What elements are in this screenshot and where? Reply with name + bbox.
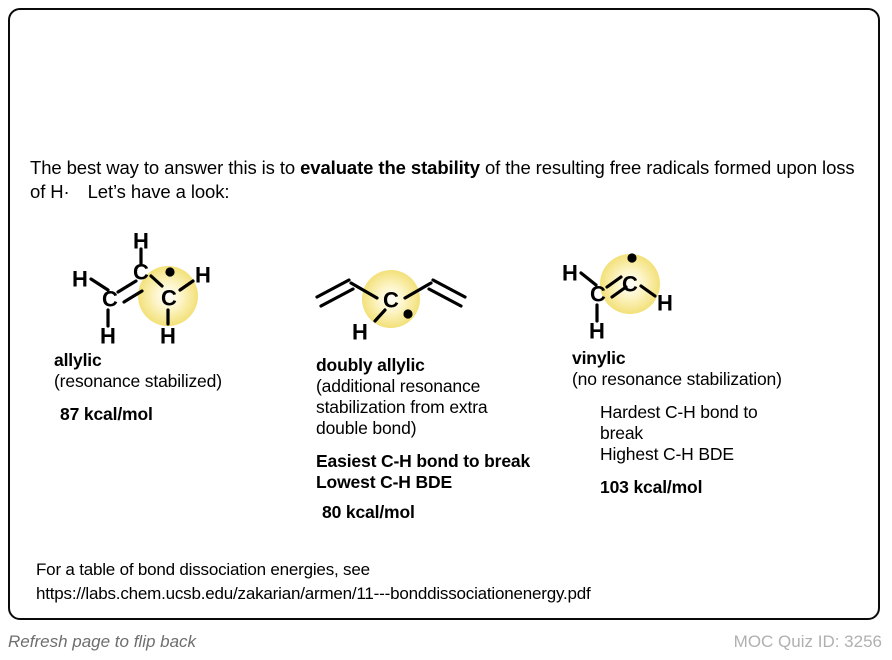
allylic-label-block: allylic (resonance stabilized) 87 kcal/m… bbox=[54, 350, 304, 425]
page-root: The best way to answer this is to evalua… bbox=[0, 0, 892, 660]
atom-C: C bbox=[590, 282, 606, 307]
source-note-url[interactable]: https://labs.chem.ucsb.edu/zakarian/arme… bbox=[36, 582, 591, 606]
allylic-bde-value: 87 kcal/mol bbox=[54, 404, 304, 425]
vinyl-radical-structure: H C C H H bbox=[543, 238, 723, 350]
intro-text-part3: Let’s have a look: bbox=[88, 181, 230, 202]
atom-H: H bbox=[160, 324, 176, 348]
atom-C-radical: C bbox=[161, 286, 177, 311]
vinylic-note-line3: Highest C-H BDE bbox=[572, 444, 872, 465]
allylic-title: allylic bbox=[54, 350, 304, 371]
allyl-radical-drawing: H C H C H C H H bbox=[50, 228, 270, 348]
allylic-subtitle: (resonance stabilized) bbox=[54, 371, 304, 392]
atom-H: H bbox=[72, 267, 88, 292]
vinylic-note-line1: Hardest C-H bond to bbox=[572, 402, 872, 423]
spacer bbox=[572, 390, 872, 402]
source-note-line1: For a table of bond dissociation energie… bbox=[36, 558, 591, 582]
vinylic-label-block: vinylic (no resonance stabilization) Har… bbox=[572, 348, 872, 498]
spacer bbox=[316, 493, 578, 502]
doubly-allylic-title: doubly allylic bbox=[316, 355, 578, 376]
intro-text-part1: The best way to answer this is to bbox=[30, 157, 300, 178]
atom-H: H bbox=[589, 319, 605, 344]
pentadienyl-radical-structure: C H bbox=[305, 258, 480, 353]
atom-H: H bbox=[657, 291, 673, 316]
radical-dot-icon bbox=[403, 309, 412, 318]
pentadienyl-radical-drawing: C H bbox=[305, 258, 480, 353]
atom-C-radical: C bbox=[622, 272, 638, 297]
doubly-allylic-subtitle-line1: (additional resonance bbox=[316, 376, 578, 397]
atom-H: H bbox=[133, 229, 149, 254]
atom-H: H bbox=[352, 320, 368, 345]
refresh-hint: Refresh page to flip back bbox=[8, 632, 196, 652]
atom-H: H bbox=[100, 324, 116, 348]
radical-dot-icon bbox=[165, 267, 174, 276]
intro-paragraph: The best way to answer this is to evalua… bbox=[30, 156, 870, 204]
doubly-allylic-subtitle-line2: stabilization from extra bbox=[316, 397, 578, 418]
vinylic-bde-value: 103 kcal/mol bbox=[572, 477, 872, 498]
radical-dot-icon bbox=[627, 253, 636, 262]
vinylic-subtitle: (no resonance stabilization) bbox=[572, 369, 872, 390]
atom-H: H bbox=[195, 263, 211, 288]
doubly-allylic-subtitle-line3: double bond) bbox=[316, 418, 578, 439]
atom-H: H bbox=[562, 261, 578, 286]
quiz-id-label: MOC Quiz ID: 3256 bbox=[734, 632, 882, 652]
atom-C-radical: C bbox=[383, 288, 399, 313]
doubly-allylic-label-block: doubly allylic (additional resonance sta… bbox=[316, 355, 578, 523]
allyl-radical-structure: H C H C H C H H bbox=[50, 228, 270, 348]
doubly-allylic-note-line1: Easiest C-H bond to break bbox=[316, 451, 578, 472]
vinylic-note-line2: break bbox=[572, 423, 872, 444]
spacer bbox=[316, 439, 578, 451]
doubly-allylic-note-line2: Lowest C-H BDE bbox=[316, 472, 578, 493]
vinylic-title: vinylic bbox=[572, 348, 872, 369]
quiz-flashcard: The best way to answer this is to evalua… bbox=[8, 8, 880, 620]
source-note: For a table of bond dissociation energie… bbox=[36, 558, 591, 606]
spacer bbox=[54, 392, 304, 404]
atom-C: C bbox=[102, 287, 118, 312]
doubly-allylic-bde-value: 80 kcal/mol bbox=[316, 502, 578, 523]
atom-C: C bbox=[133, 260, 149, 285]
vinyl-radical-drawing: H C C H H bbox=[543, 238, 723, 350]
spacer bbox=[572, 465, 872, 477]
intro-emphasis: evaluate the stability bbox=[300, 157, 480, 178]
